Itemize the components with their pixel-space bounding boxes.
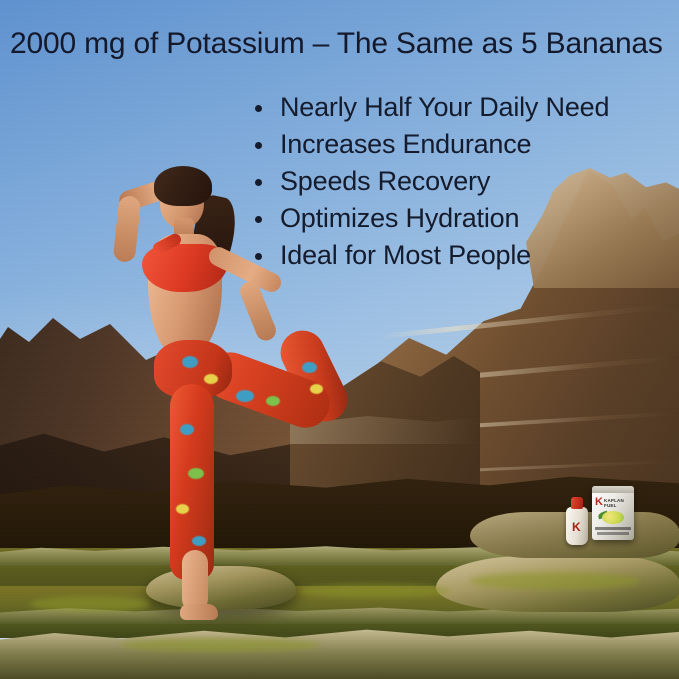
legging-pattern bbox=[266, 396, 280, 406]
list-item: Ideal for Most People bbox=[252, 238, 672, 273]
supplement-pouch: K KAPLAN FUEL bbox=[592, 486, 634, 540]
moss-patch bbox=[120, 638, 320, 652]
pouch-footer-bar bbox=[597, 532, 629, 535]
bottle-cap bbox=[571, 497, 583, 509]
list-item: Speeds Recovery bbox=[252, 164, 672, 199]
bullet-dot-icon bbox=[255, 216, 262, 223]
list-item: Nearly Half Your Daily Need bbox=[252, 90, 672, 125]
pouch-seal bbox=[592, 486, 634, 493]
pouch-logo-k: K bbox=[595, 497, 603, 508]
bullet-dot-icon bbox=[255, 253, 262, 260]
bullet-dot-icon bbox=[255, 179, 262, 186]
list-item: Increases Endurance bbox=[252, 127, 672, 162]
legging-pattern bbox=[176, 504, 189, 514]
bottle-logo-k: K bbox=[572, 521, 581, 533]
legging-pattern bbox=[192, 536, 206, 546]
water-bottle: K bbox=[566, 497, 588, 545]
moss-patch bbox=[470, 572, 640, 590]
model-hair bbox=[154, 166, 212, 206]
promo-image: K K KAPLAN FUEL 2000 mg of Potassium – T… bbox=[0, 0, 679, 679]
moss-patch bbox=[30, 596, 150, 612]
legging-pattern bbox=[310, 384, 323, 394]
list-item-label: Speeds Recovery bbox=[280, 166, 490, 196]
legging-pattern bbox=[204, 374, 218, 384]
pouch-footer-bar bbox=[595, 527, 631, 530]
list-item-label: Ideal for Most People bbox=[280, 240, 531, 270]
benefit-list: Nearly Half Your Daily Need Increases En… bbox=[252, 90, 672, 275]
model-foot bbox=[180, 604, 218, 620]
pouch-brand-text: KAPLAN FUEL bbox=[604, 498, 634, 508]
legging-pattern bbox=[302, 362, 317, 373]
list-item-label: Increases Endurance bbox=[280, 129, 531, 159]
headline: 2000 mg of Potassium – The Same as 5 Ban… bbox=[10, 27, 678, 61]
list-item-label: Nearly Half Your Daily Need bbox=[280, 92, 609, 122]
bullet-dot-icon bbox=[255, 105, 262, 112]
bullet-dot-icon bbox=[255, 142, 262, 149]
list-item: Optimizes Hydration bbox=[252, 201, 672, 236]
model-shin bbox=[182, 550, 208, 612]
model-raised-forearm bbox=[113, 195, 142, 263]
legging-pattern bbox=[236, 390, 254, 402]
pouch-lemon-graphic bbox=[602, 511, 624, 524]
legging-pattern bbox=[182, 356, 198, 368]
list-item-label: Optimizes Hydration bbox=[280, 203, 519, 233]
legging-pattern bbox=[188, 468, 204, 479]
legging-pattern bbox=[180, 424, 194, 435]
